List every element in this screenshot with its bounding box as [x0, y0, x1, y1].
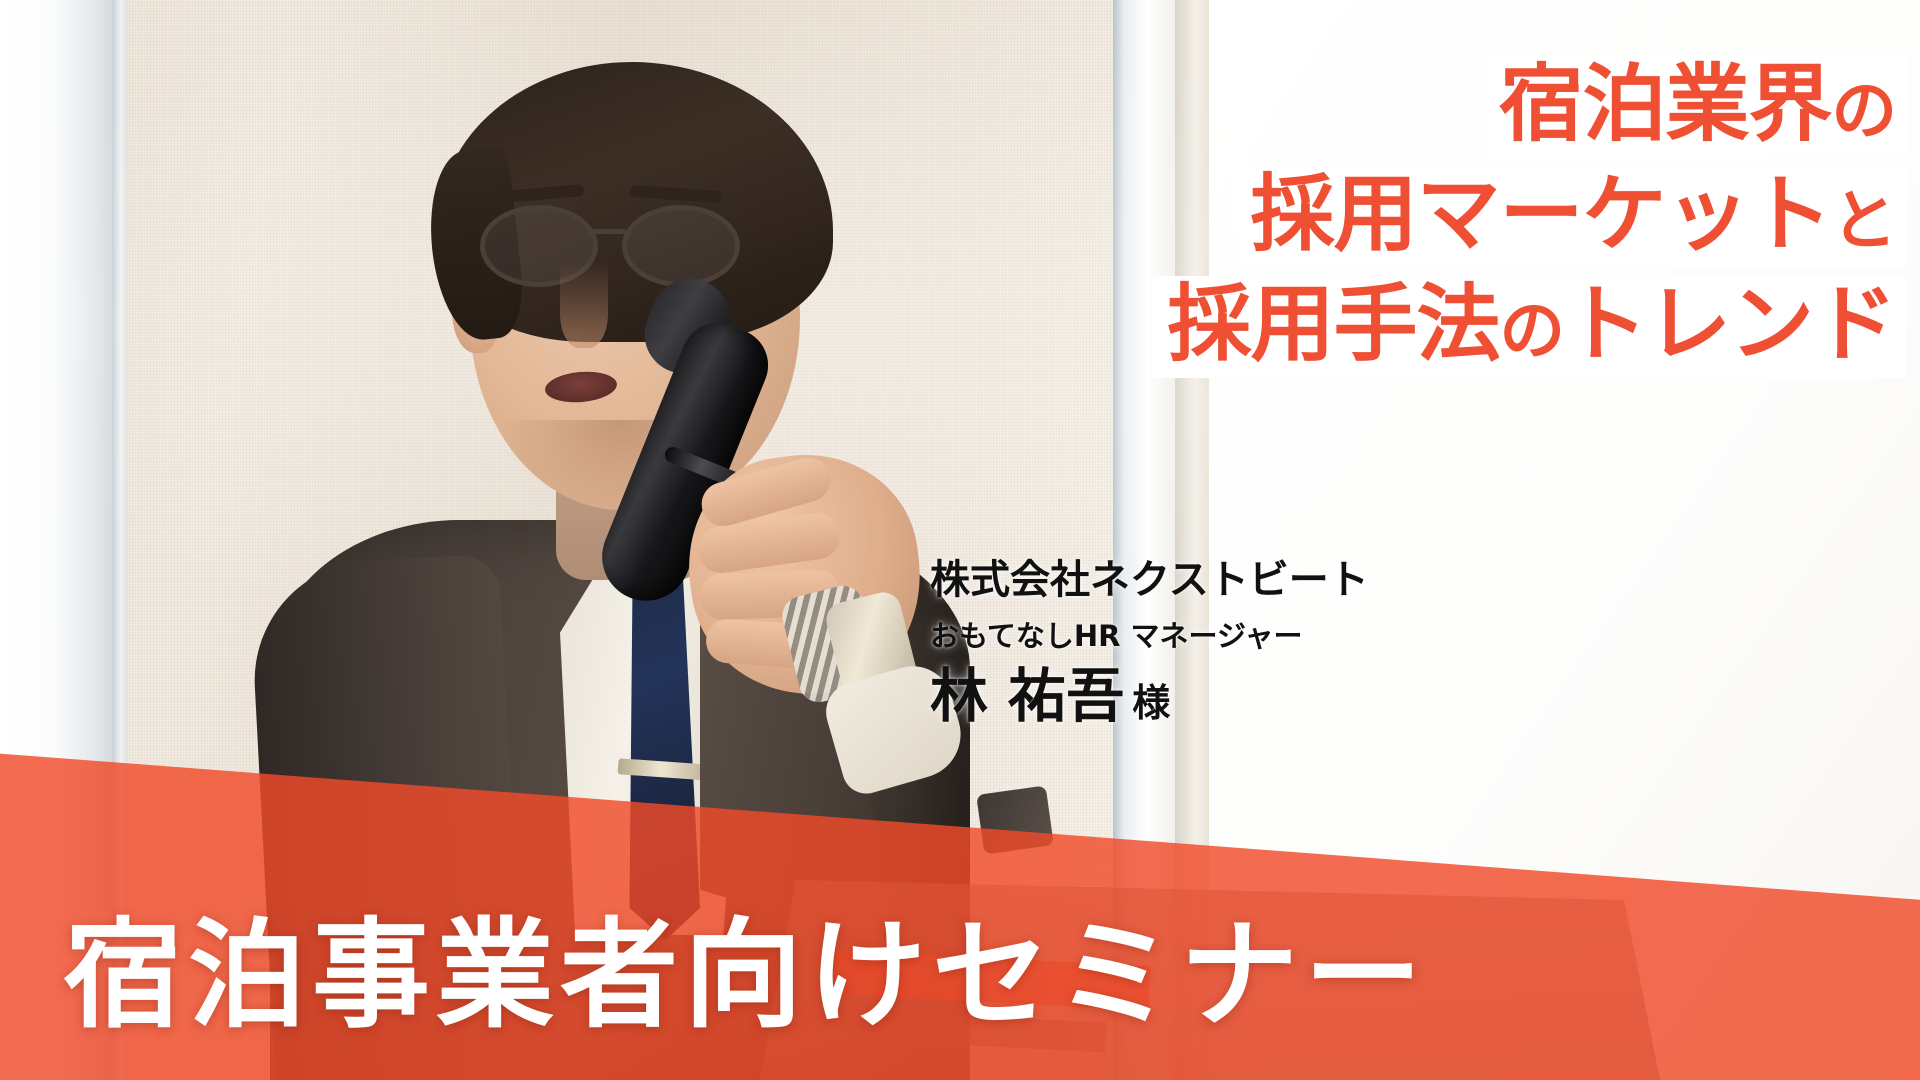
- speaker-name: 林 祐吾様: [930, 664, 1369, 729]
- title-line-3-text: 採用手法のトレンド: [1153, 276, 1906, 378]
- speaker-company: 株式会社ネクストビート: [930, 556, 1369, 605]
- title-line-2-text: 採用マーケットと: [1236, 166, 1906, 268]
- title-line-1: 宿泊業界の: [1153, 56, 1906, 158]
- title-line-1-text: 宿泊業界の: [1485, 56, 1906, 158]
- seminar-title: 宿泊業界の 採用マーケットと 採用手法のトレンド: [1153, 56, 1906, 386]
- speaker-name-text: 林 祐吾: [930, 662, 1124, 730]
- nose: [560, 262, 608, 348]
- title-line-2: 採用マーケットと: [1153, 166, 1906, 268]
- glasses-icon: [480, 205, 780, 277]
- seminar-title-slide: 宿泊業界の 採用マーケットと 採用手法のトレンド 株式会社ネクストビート おもて…: [0, 0, 1920, 1080]
- banner-label: 宿泊事業者向けセミナー: [64, 916, 1428, 1034]
- speaker-honorific: 様: [1132, 681, 1170, 725]
- glasses-lens-right: [622, 205, 740, 287]
- glasses-bridge: [586, 229, 626, 234]
- speaker-info: 株式会社ネクストビート おもてなしHR マネージャー 林 祐吾様: [930, 556, 1369, 729]
- speaker-role: おもてなしHR マネージャー: [930, 615, 1369, 659]
- title-line-3: 採用手法のトレンド: [1153, 276, 1906, 378]
